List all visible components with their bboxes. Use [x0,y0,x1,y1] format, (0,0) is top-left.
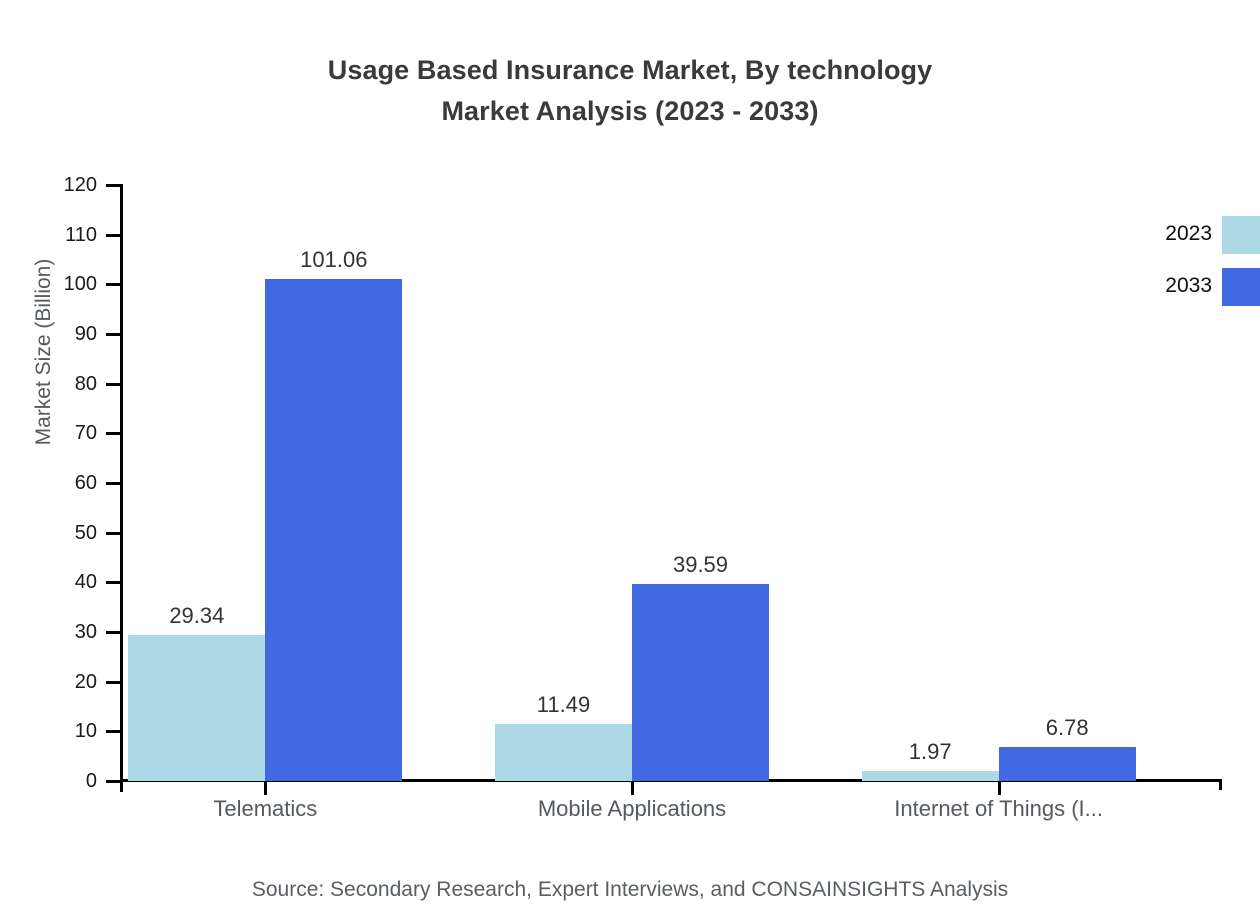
y-axis-tick [106,482,121,485]
y-axis-tick-label: 20 [37,672,97,692]
bar-2023-0[interactable] [128,635,265,781]
y-axis-tick [106,730,121,733]
chart-title: Usage Based Insurance Market, By technol… [0,50,1260,132]
y-axis-tick [106,780,121,783]
y-axis-tick-label: 120 [37,175,97,195]
legend-item-2023[interactable]: 2023 [1100,216,1260,252]
x-axis-category-label: Internet of Things (I... [829,794,1169,824]
bar-2033-0[interactable] [265,279,402,781]
bar-value-label: 39.59 [611,552,791,578]
bar-value-label: 1.97 [840,739,1020,765]
bar-2033-1[interactable] [632,584,769,781]
y-axis-tick-label: 90 [37,324,97,344]
chart-title-line-2: Market Analysis (2023 - 2033) [0,91,1260,132]
legend: 20232033 [1100,216,1260,306]
bar-value-label: 6.78 [977,715,1157,741]
y-axis-tick [106,283,121,286]
bar-value-label: 29.34 [107,603,287,629]
y-axis-tick-label: 100 [37,274,97,294]
y-axis-tick-label: 0 [37,771,97,791]
bar-value-label: 101.06 [244,247,424,273]
y-axis-tick-label: 40 [37,572,97,592]
legend-item-2033[interactable]: 2033 [1100,268,1260,304]
y-axis-tick-label: 80 [37,374,97,394]
x-axis-category-label: Mobile Applications [462,794,802,824]
y-axis-tick-label: 10 [37,721,97,741]
y-axis-tick [106,333,121,336]
y-axis-tick-label: 60 [37,473,97,493]
y-axis-tick-label: 110 [37,225,97,245]
x-axis-category-label: Telematics [95,794,435,824]
y-axis-tick [106,581,121,584]
y-axis-tick-label: 50 [37,523,97,543]
legend-label: 2033 [1100,268,1212,304]
y-axis-tick [106,631,121,634]
bar-2023-2[interactable] [862,771,999,781]
legend-swatch [1222,216,1260,254]
bar-chart: Usage Based Insurance Market, By technol… [0,0,1260,920]
y-axis-tick [106,383,121,386]
y-axis-tick [106,432,121,435]
bar-2033-2[interactable] [999,747,1136,781]
bar-2023-1[interactable] [495,724,632,781]
y-axis-tick [106,184,121,187]
y-axis-tick [106,681,121,684]
plot-area: 29.34101.0611.4939.591.976.78 [122,185,1222,781]
chart-title-line-1: Usage Based Insurance Market, By technol… [328,55,933,85]
y-axis-title: Market Size (Billion) [32,202,56,502]
bar-value-label: 11.49 [474,692,654,718]
y-axis-tick [106,532,121,535]
legend-label: 2023 [1100,216,1212,252]
y-axis-tick-label: 70 [37,423,97,443]
y-axis-tick [106,234,121,237]
legend-swatch [1222,268,1260,306]
source-note: Source: Secondary Research, Expert Inter… [0,878,1260,902]
y-axis-tick-label: 30 [37,622,97,642]
